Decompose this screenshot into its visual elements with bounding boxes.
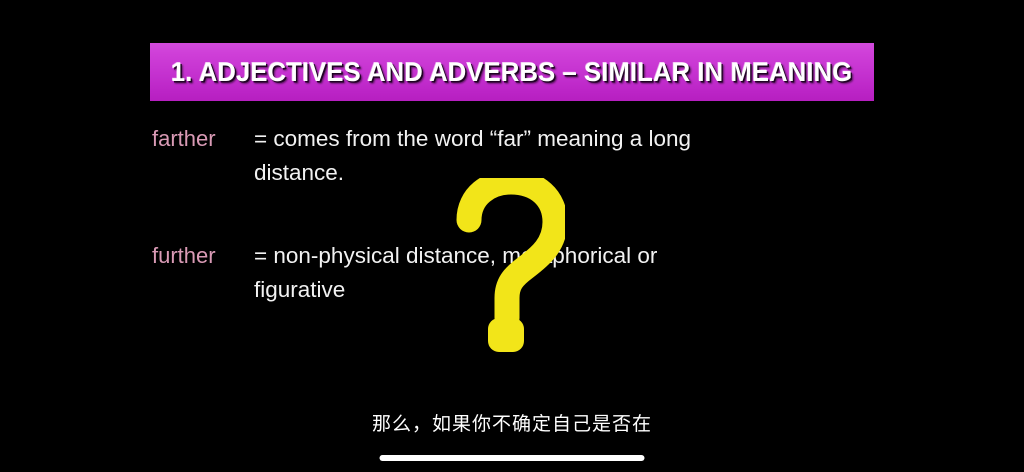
definition-body-farther: = comes from the word “far” meaning a lo… [254,122,854,190]
subtitle-caption: 那么，如果你不确定自己是否在 [0,411,1024,439]
definition-term-further: further [152,239,252,273]
definition-row-further: further = non-physical distance, metapho… [152,239,852,307]
home-indicator-bar[interactable] [380,455,645,461]
slide-title-banner: 1. ADJECTIVES AND ADVERBS – SIMILAR IN M… [150,43,874,101]
video-player: 1. ADJECTIVES AND ADVERBS – SIMILAR IN M… [0,0,1024,472]
slide-title-text: 1. ADJECTIVES AND ADVERBS – SIMILAR IN M… [171,59,852,86]
definition-line: figurative [254,273,854,307]
definition-body-further: = non-physical distance, metaphorical or… [254,239,854,307]
definition-line: = non-physical distance, metaphorical or [254,239,854,273]
definition-line: = comes from the word “far” meaning a lo… [254,122,854,156]
presentation-slide: 1. ADJECTIVES AND ADVERBS – SIMILAR IN M… [0,0,1024,472]
definition-line: distance. [254,156,854,190]
definition-row-farther: farther = comes from the word “far” mean… [152,122,852,190]
definition-term-farther: farther [152,122,252,156]
